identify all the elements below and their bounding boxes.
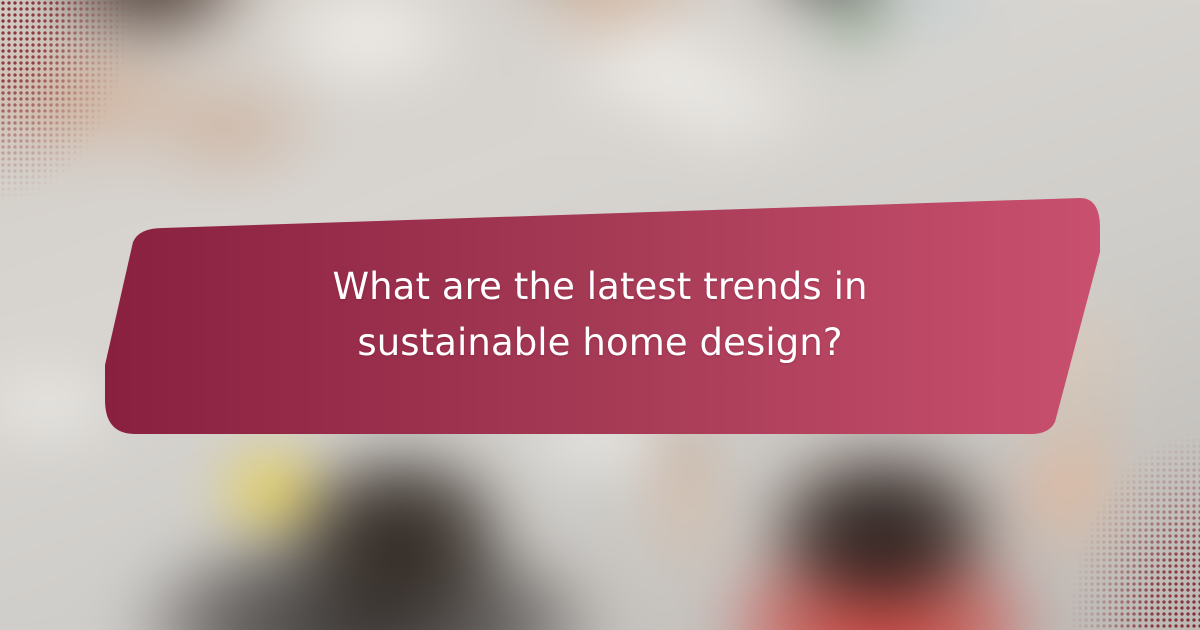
share-card: What are the latest trends in sustainabl… — [0, 0, 1200, 630]
question-banner: What are the latest trends in sustainabl… — [95, 190, 1105, 440]
question-heading: What are the latest trends in sustainabl… — [250, 259, 950, 371]
banner-text-block: What are the latest trends in sustainabl… — [95, 190, 1105, 440]
